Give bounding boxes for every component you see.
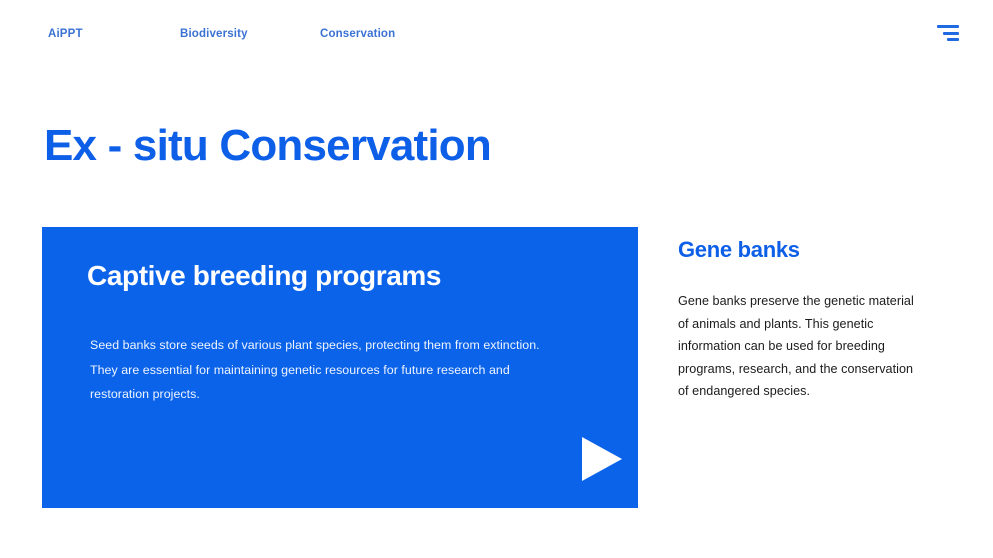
side-panel-heading: Gene banks	[678, 235, 928, 265]
hamburger-line-top	[937, 25, 959, 28]
nav-link-aippt[interactable]: AiPPT	[48, 26, 180, 42]
content-area: Captive breeding programs Seed banks sto…	[0, 227, 993, 508]
feature-card[interactable]: Captive breeding programs Seed banks sto…	[42, 227, 638, 508]
side-panel-body-text: Gene banks preserve the genetic material…	[678, 290, 918, 403]
feature-card-heading: Captive breeding programs	[87, 258, 441, 294]
hamburger-line-bottom	[947, 38, 959, 41]
play-triangle-icon[interactable]	[580, 435, 624, 483]
nav-link-biodiversity[interactable]: Biodiversity	[180, 26, 320, 42]
top-navigation-bar: AiPPT Biodiversity Conservation	[0, 0, 993, 68]
feature-card-body-text: Seed banks store seeds of various plant …	[90, 333, 555, 407]
side-panel: Gene banks Gene banks preserve the genet…	[678, 227, 928, 403]
hamburger-line-middle	[943, 32, 959, 35]
hamburger-menu-icon[interactable]	[935, 23, 959, 43]
nav-link-group: AiPPT Biodiversity Conservation	[48, 26, 395, 42]
page-title: Ex - situ Conservation	[44, 118, 491, 174]
nav-link-conservation[interactable]: Conservation	[320, 26, 395, 42]
